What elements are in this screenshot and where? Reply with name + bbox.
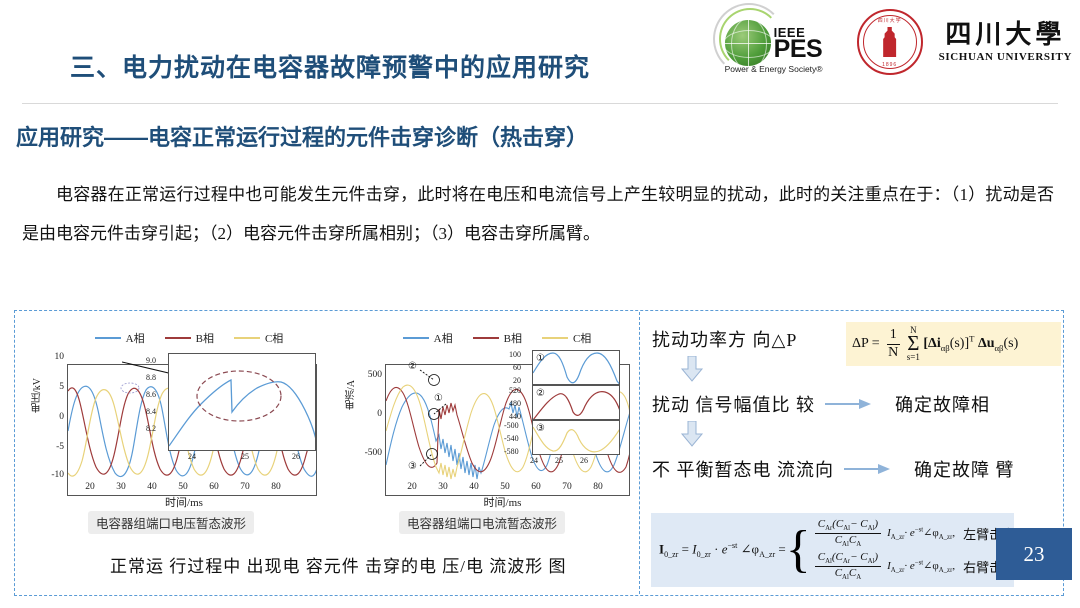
case1-num: CAr(CAl− CAl) [815, 518, 881, 534]
legend-label-a: A相 [434, 330, 453, 346]
flow-step-3-label: 不 平衡暂态电 流流向 [652, 456, 834, 482]
c2-nb-sub: Ar [843, 558, 850, 565]
seal-tower-icon [881, 27, 899, 57]
c2-nb: (C [832, 551, 843, 563]
arrow-down-icon [680, 421, 704, 447]
c2-tb: · e [904, 560, 914, 572]
dp-body-a-sub: αβ [941, 343, 950, 353]
c2-tc-sub: A_zr [939, 567, 953, 574]
c1-ta-sub: A_zr [891, 534, 905, 541]
legend-swatch-b [165, 337, 191, 339]
bf-i0b-sub: 0_zr [697, 550, 711, 559]
current-x-axis-label: 时间/ms [380, 494, 625, 510]
voltage-inset-plot [168, 353, 316, 451]
current-inset-label-1: ① [536, 353, 545, 364]
current-inset-y-tick: -540 [504, 434, 519, 443]
breakdown-case-left: CAr(CAl− CAl) CAlCA IA_zr· e−st∠φA_zr, 左… [813, 518, 1015, 549]
voltage-x-tick: 80 [268, 482, 284, 492]
current-inset-2-series [533, 392, 620, 420]
legend-label-b: B相 [196, 330, 214, 346]
flow-step-2-result: 确定故障相 [895, 391, 990, 417]
current-chart-caption: 电容器组端口电流暂态波形 [399, 511, 565, 534]
current-y-tick: 500 [356, 370, 382, 380]
current-x-tick: 50 [497, 482, 513, 492]
current-inset-x-tick: 24 [530, 456, 538, 465]
header-divider [22, 103, 1058, 104]
breakdown-case-right: CAl(CAr− CAl) CAlCA IA_zr· e−st∠φA_zr, 右… [813, 551, 1015, 582]
voltage-y-tick: -5 [40, 442, 64, 452]
current-inset-2-svg [533, 386, 620, 420]
current-inset-y-tick: 100 [509, 350, 521, 359]
bf-angle: ∠φ [741, 541, 759, 556]
bf-dot: · [714, 541, 718, 556]
c2-tc: ∠φ [923, 560, 939, 572]
c2-ta-sub: A_zr [891, 567, 905, 574]
legend-swatch-a [95, 337, 121, 339]
current-inset-1-series [533, 353, 620, 385]
section-subtitle: 应用研究——电容正常运行过程的元件击穿诊断（热击穿） [16, 120, 588, 152]
bf-eq: = [682, 541, 689, 556]
arrow-down-icon [680, 356, 704, 382]
current-inset-x-tick: 26 [580, 456, 588, 465]
current-inset-3-series [533, 427, 620, 452]
dp-frac-num: 1 [887, 327, 900, 344]
voltage-inset-x-tick: 26 [292, 452, 300, 461]
dp-summation: N Σ s=1 [907, 326, 920, 362]
c1-tb: · e [904, 527, 914, 539]
voltage-chart-caption: 电容器组端口电压暂态波形 [88, 511, 254, 534]
legend-label-c: C相 [573, 330, 591, 346]
current-y-tick: -500 [352, 448, 382, 458]
voltage-y-axis-label: 电压/kV [30, 378, 45, 413]
legend-item-a: A相 [95, 330, 145, 346]
ieee-globe-icon [725, 20, 771, 66]
c2-db-sub: A [856, 574, 861, 581]
current-x-tick: 60 [528, 482, 544, 492]
case2-fraction: CAl(CAr− CAl) CAlCA [815, 551, 881, 582]
current-y-axis-label: 电流/A [344, 380, 359, 410]
content-vertical-divider [639, 312, 640, 594]
case-brace-icon: { [786, 529, 811, 571]
scu-chinese-name: 四川大學 [945, 22, 1065, 48]
dp-body-a: [Δi [923, 336, 940, 351]
current-inset-panel-2: ② [532, 385, 620, 420]
body-paragraph: 电容器在正常运行过程中也可能发生元件击穿，此时将在电压和电流信号上产生较明显的扰… [22, 175, 1054, 253]
page-title: 三、电力扰动在电容器故障预警中的应用研究 [70, 48, 590, 84]
current-inset-3-svg [533, 421, 620, 455]
voltage-x-axis-label: 时间/ms [59, 494, 309, 510]
c2-nd: ) [874, 551, 878, 563]
voltage-x-tick: 60 [206, 482, 222, 492]
legend-label-b: B相 [504, 330, 522, 346]
c1-da-sub: Al [842, 541, 849, 548]
current-inset-panel-1: ① [532, 350, 620, 385]
flow-step-2-label: 扰动 信号幅值比 较 [652, 391, 815, 417]
legend-label-c: C相 [265, 330, 283, 346]
case1-tail: IA_zr· e−st∠φA_zr, [887, 526, 955, 541]
c2-nc: − C [850, 551, 868, 563]
dp-body-b: (s)] [950, 336, 969, 351]
voltage-inset-y-tick: 8.8 [146, 373, 156, 382]
ieee-pes-logo: IEEE PES Power & Energy Society® [725, 6, 843, 78]
current-inset-y-tick: 440 [509, 412, 521, 421]
breakdown-current-formula-box: I0_zr = I0_zr · e−st ∠φA_zr = { CAr(CAl−… [651, 513, 1014, 587]
current-inset-1-svg [533, 351, 620, 385]
current-inset-x-tick: 25 [555, 456, 563, 465]
c2-da-sub: Al [842, 574, 849, 581]
flow-step-3-result: 确定故障 臂 [914, 456, 1015, 482]
legend-swatch-c [234, 337, 260, 339]
ieee-tagline: Power & Energy Society® [725, 64, 823, 74]
legend-item-a: A相 [403, 330, 453, 346]
dp-fraction: 1 N [885, 327, 901, 360]
current-inset-y-tick: -580 [504, 447, 519, 456]
voltage-y-tick: 0 [44, 412, 64, 422]
voltage-chart-legend: A相 B相 C相 [54, 330, 324, 346]
case1-fraction: CAr(CAl− CAl) CAlCA [815, 518, 881, 549]
voltage-inset-x-tick: 25 [241, 452, 249, 461]
voltage-y-tick: 5 [44, 382, 64, 392]
current-inset-panel-3: ③ [532, 420, 620, 455]
case2-num: CAl(CAr− CAl) [815, 551, 881, 567]
dp-body-d: (s) [1003, 336, 1018, 351]
sigma-icon: Σ [907, 335, 919, 353]
bf-eq2: = [778, 541, 785, 556]
legend-item-c: C相 [234, 330, 283, 346]
legend-item-b: B相 [473, 330, 522, 346]
case2-tail: IA_zr· e−st∠φA_zr, [887, 559, 955, 574]
voltage-x-tick: 40 [144, 482, 160, 492]
delta-p-formula-box: ΔP = 1 N N Σ s=1 [Δiαβ(s)]T Δuαβ(s) [846, 322, 1061, 366]
current-inset-y-tick: -500 [504, 421, 519, 430]
arrow-right-icon [825, 398, 871, 410]
voltage-inset-y-tick: 8.4 [146, 407, 156, 416]
voltage-x-tick: 20 [82, 482, 98, 492]
bf-angle-sub: A_zr [759, 550, 775, 559]
breakdown-cases: CAr(CAl− CAl) CAlCA IA_zr· e−st∠φA_zr, 左… [813, 518, 1015, 582]
c2-da: C [835, 567, 842, 579]
legend-label-a: A相 [126, 330, 145, 346]
voltage-x-tick: 50 [175, 482, 191, 492]
current-inset-y-tick: 480 [509, 399, 521, 408]
c1-nd: ) [874, 518, 878, 530]
case2-den: CAlCA [832, 567, 864, 582]
breakdown-formula-lhs: I0_zr = I0_zr · e−st ∠φA_zr = [659, 541, 786, 559]
c1-tc: ∠φ [923, 527, 939, 539]
charts-bottom-caption: 正常运 行过程中 出现电 容元件 击穿的电 压/电 流波形 图 [110, 552, 566, 577]
legend-item-c: C相 [542, 330, 591, 346]
seal-bottom-text: 1896 [859, 62, 921, 68]
scu-english-name: SICHUAN UNIVERSITY [939, 51, 1072, 63]
legend-swatch-a [403, 337, 429, 339]
page-number-badge: 23 [996, 528, 1072, 580]
case1-den: CAlCA [832, 534, 864, 549]
current-x-tick: 80 [590, 482, 606, 492]
c1-nb: (C [832, 518, 843, 530]
current-x-tick: 20 [404, 482, 420, 492]
dp-body-c: Δu [978, 336, 995, 351]
voltage-y-tick: 10 [44, 352, 64, 362]
voltage-inset-y-tick: 8.2 [146, 424, 156, 433]
current-x-tick: 70 [559, 482, 575, 492]
voltage-y-tick: -10 [37, 470, 64, 480]
delta-p-formula: ΔP = 1 N N Σ s=1 [Δiαβ(s)]T Δuαβ(s) [852, 326, 1018, 362]
current-inset-y-tick: 20 [513, 376, 521, 385]
c1-da: C [835, 534, 842, 546]
voltage-x-tick: 30 [113, 482, 129, 492]
voltage-inset-x-tick: 24 [188, 452, 196, 461]
bf-i0-sub: 0_zr [664, 550, 678, 559]
scu-wordmark-logo: 四川大學 SICHUAN UNIVERSITY [939, 22, 1072, 63]
current-inset-y-tick: 520 [509, 386, 521, 395]
current-chart: A相 B相 C相 电流/A 500 0 -500 ② ① ③ [350, 330, 630, 505]
voltage-inset-series-a [169, 380, 316, 446]
c2-na: C [818, 551, 825, 563]
dp-body-b-sup: T [969, 334, 974, 344]
dp-frac-den: N [885, 345, 901, 361]
dp-sum-bottom: s=1 [907, 353, 920, 362]
current-y-tick: 0 [356, 409, 382, 419]
flow-arrow-2 [652, 421, 1064, 452]
voltage-inset-svg [169, 354, 316, 451]
c1-tc-sub: A_zr [939, 534, 953, 541]
bf-exp-sup: −st [728, 541, 738, 550]
logo-group: IEEE PES Power & Energy Society® 四川大学 18… [725, 4, 1072, 80]
globe-meridian-icon [731, 20, 767, 66]
c2-tb-sup: −st [915, 559, 923, 566]
legend-item-b: B相 [165, 330, 214, 346]
c1-na: C [818, 518, 825, 530]
current-inset-label-3: ③ [536, 423, 545, 434]
flow-step-2-row: 扰动 信号幅值比 较 确定故障相 [652, 387, 1064, 421]
dp-lhs: ΔP = [852, 336, 880, 351]
current-x-tick: 40 [466, 482, 482, 492]
flow-step-1-label: 扰动功率方 向△P [652, 326, 797, 352]
c1-nc: − C [850, 518, 868, 530]
voltage-x-tick: 70 [237, 482, 253, 492]
voltage-chart: A相 B相 C相 电压/kV 10 5 0 -5 -10 [34, 330, 324, 505]
c2-na-sub: Al [825, 558, 832, 565]
flow-step-3-row: 不 平衡暂态电 流流向 确定故障 臂 [652, 452, 1064, 486]
current-chart-legend: A相 B相 C相 [364, 330, 630, 346]
voltage-inset-y-tick: 9.0 [146, 356, 156, 365]
current-inset-label-2: ② [536, 388, 545, 399]
legend-swatch-b [473, 337, 499, 339]
scu-seal-logo: 四川大学 1896 [857, 9, 923, 75]
current-inset-y-tick: 60 [513, 363, 521, 372]
current-x-tick: 30 [435, 482, 451, 492]
arrow-right-icon [844, 463, 890, 475]
voltage-inset-y-tick: 8.6 [146, 390, 156, 399]
c1-tb-sup: −st [915, 526, 923, 533]
c1-db-sub: A [856, 541, 861, 548]
seal-top-text: 四川大学 [859, 17, 921, 24]
globe-parallel-icon [725, 30, 771, 58]
legend-swatch-c [542, 337, 568, 339]
